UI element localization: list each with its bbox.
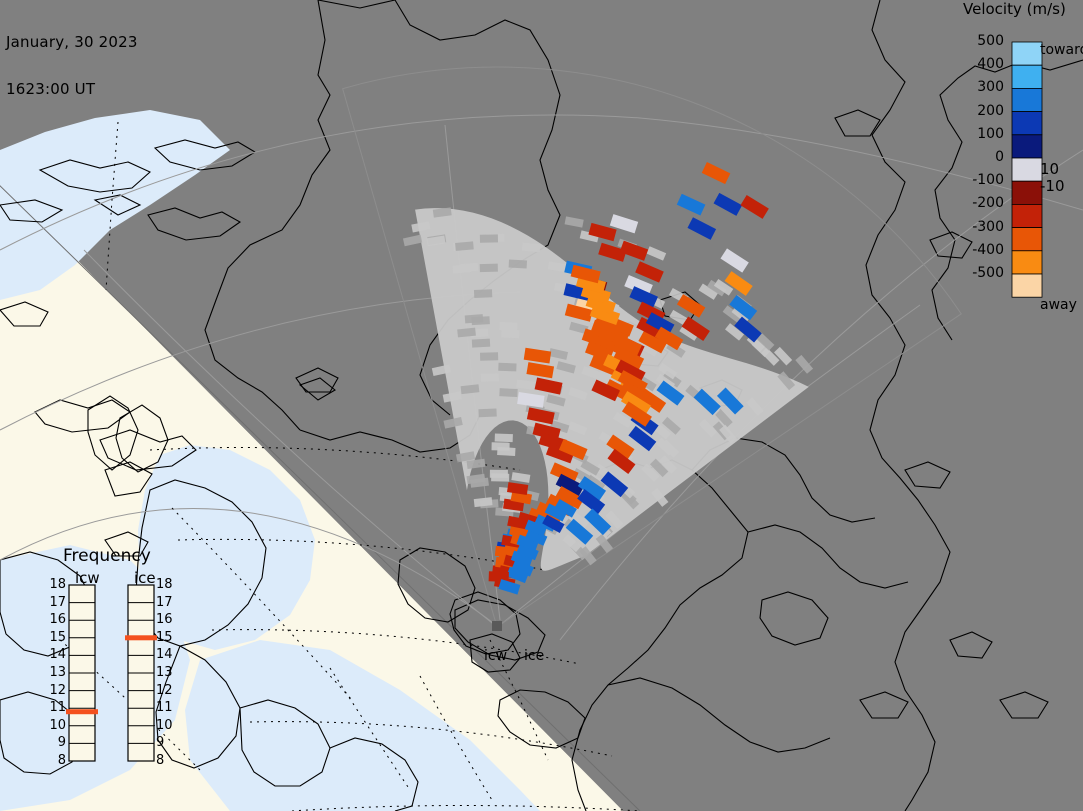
ground-scatter-cell [522, 243, 541, 253]
colorbar-band [1012, 228, 1042, 251]
colorbar-away-label: away [1040, 297, 1077, 313]
colorbar-toward-label: toward [1040, 42, 1083, 58]
frequency-scale-number: 18 [156, 577, 178, 592]
ground-scatter-cell [474, 289, 492, 298]
radar-map-figure: January, 30 2023 1623:00 UT Velocity (m/… [0, 0, 1083, 811]
frequency-scale-number: 11 [44, 700, 66, 715]
frequency-marker [66, 709, 98, 714]
frequency-scale-number: 18 [44, 577, 66, 592]
ground-scatter-cell [472, 339, 490, 348]
colorbar-band [1012, 112, 1042, 135]
ground-scatter-cell [497, 447, 515, 456]
ground-scatter-cell [491, 473, 509, 481]
ground-scatter-cell [501, 329, 519, 338]
colorbar-band [1012, 158, 1042, 181]
colorbar-band [1012, 251, 1042, 274]
ground-scatter-cell [481, 373, 499, 382]
colorbar-tick: -200 [960, 195, 1004, 211]
colorbar-tick: 400 [960, 56, 1004, 72]
frequency-marker [125, 635, 157, 640]
frequency-scale-number: 17 [44, 595, 66, 610]
ground-scatter-cell [509, 260, 527, 269]
frequency-scale-number: 16 [44, 612, 66, 627]
frequency-scale-number: 13 [156, 665, 178, 680]
frequency-scale-number: 14 [44, 647, 66, 662]
colorbar-band [1012, 274, 1042, 297]
frequency-scale-number: 17 [156, 595, 178, 610]
timestamp-block: January, 30 2023 1623:00 UT [6, 3, 138, 129]
frequency-scale-number: 8 [156, 753, 178, 768]
radar-site-marker [492, 621, 502, 631]
colorbar-band [1012, 204, 1042, 227]
colorbar-band [1012, 181, 1042, 204]
colorbar-tick: 0 [960, 149, 1004, 165]
time-label: 1623:00 UT [6, 82, 138, 98]
colorbar-band [1012, 135, 1042, 158]
frequency-scale-number: 12 [156, 683, 178, 698]
frequency-scale-number: 10 [156, 718, 178, 733]
colorbar-band [1012, 88, 1042, 111]
colorbar-band [1012, 65, 1042, 88]
frequency-scale-number: 13 [44, 665, 66, 680]
ground-scatter-cell [465, 314, 484, 323]
ground-scatter-cell [495, 434, 513, 443]
colorbar-tick: -400 [960, 242, 1004, 258]
ground-scatter-cell [499, 322, 517, 331]
site-label-ice: ice [524, 648, 544, 664]
site-label-icw: icw [484, 648, 507, 664]
frequency-scale-number: 9 [156, 735, 178, 750]
colorbar-tick: -100 [960, 172, 1004, 188]
frequency-legend: Frequency icw ice 1818171716161515141413… [40, 545, 225, 795]
frequency-scale-number: 16 [156, 612, 178, 627]
colorbar-tick: 100 [960, 126, 1004, 142]
ground-scatter-cell [455, 241, 474, 251]
date-label: January, 30 2023 [6, 35, 138, 51]
frequency-scale-number: 14 [156, 647, 178, 662]
ground-scatter-cell [498, 363, 516, 372]
colorbar-upper-inner-label: 10 [1040, 160, 1059, 178]
colorbar-tick: 300 [960, 79, 1004, 95]
frequency-scale-number: 8 [44, 753, 66, 768]
colorbar-tick: -500 [960, 265, 1004, 281]
ground-scatter-cell [480, 234, 498, 242]
colorbar-lower-inner-label: -10 [1040, 177, 1065, 195]
frequency-scale-number: 12 [44, 683, 66, 698]
ground-scatter-cell [499, 388, 517, 397]
colorbar-band [1012, 42, 1042, 65]
colorbar-tick: 200 [960, 103, 1004, 119]
velocity-colorbar: Velocity (m/s) 5004003002001000-100-200-… [950, 0, 1083, 330]
ground-scatter-cell [480, 264, 498, 272]
frequency-scale-number: 11 [156, 700, 178, 715]
colorbar-tick: 500 [960, 33, 1004, 49]
frequency-scale-number: 15 [156, 630, 178, 645]
frequency-scale-number: 9 [44, 735, 66, 750]
colorbar-tick: -300 [960, 219, 1004, 235]
colorbar-bands [1012, 42, 1042, 297]
ground-scatter-cell [480, 352, 498, 361]
frequency-bars [66, 585, 157, 761]
frequency-scale-number: 10 [44, 718, 66, 733]
ground-scatter-cell [478, 408, 496, 417]
frequency-scale-number: 15 [44, 630, 66, 645]
